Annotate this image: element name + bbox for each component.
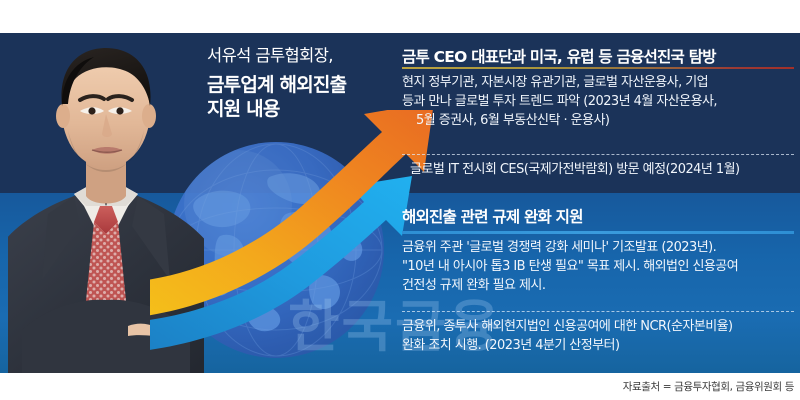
growth-arrows — [150, 110, 440, 360]
divider-dashed-1 — [402, 154, 794, 155]
section-2-block-2: 금융위, 종투사 해외현지법인 신용공여에 대한 NCR(순자본비율) 완화 조… — [402, 317, 798, 355]
text-line: "10년 내 아시아 톱3 IB 탄생 필요" 목표 제시. 해외법인 신용공여 — [402, 257, 798, 276]
section-title-overseas-tour: 금투 CEO 대표단과 미국, 유럽 등 금융선진국 탐방 — [402, 45, 716, 67]
headline-line-1: 서유석 금투협회장, — [207, 45, 387, 66]
section-title-deregulation: 해외진출 관련 규제 완화 지원 — [402, 205, 583, 227]
text-line: 글로벌 IT 전시회 CES(국제가전박람회) 방문 예정(2024년 1월) — [410, 160, 798, 179]
headline-line-3: 지원 내용 — [207, 97, 387, 121]
text-line: 금융위, 종투사 해외현지법인 신용공여에 대한 NCR(순자본비율) — [402, 317, 798, 336]
text-line: 현지 정부기관, 자본시장 유관기관, 글로벌 자산운용사, 기업 — [402, 73, 798, 92]
section-1-rule — [402, 67, 794, 69]
section-1-block-2: 글로벌 IT 전시회 CES(국제가전박람회) 방문 예정(2024년 1월) — [410, 160, 798, 179]
headline-line-2: 금투업계 해외진출 — [207, 73, 387, 97]
section-1-block-1: 현지 정부기관, 자본시장 유관기관, 글로벌 자산운용사, 기업 등과 만나 … — [402, 73, 798, 131]
text-line: 완화 조치 시행. (2023년 4분기 산정부터) — [402, 336, 798, 355]
section-2-rule — [402, 231, 794, 234]
text-line: 5월 증권사, 6월 부동산신탁 · 운용사) — [402, 111, 798, 130]
infographic-root: 한국금융 서유석 금투협회장, 금투업계 해외진출 지원 내용 금투 CEO 대… — [0, 0, 800, 400]
divider-dashed-2 — [402, 311, 794, 312]
text-line: 건전성 규제 완화 필요 제시. — [402, 276, 798, 295]
headline: 서유석 금투협회장, 금투업계 해외진출 지원 내용 — [207, 45, 387, 122]
text-line: 등과 만나 글로벌 투자 트렌드 파악 (2023년 4월 자산운용사, — [402, 92, 798, 111]
section-2-block-1: 금융위 주관 '글로벌 경쟁력 강화 세미나' 기조발표 (2023년). "1… — [402, 238, 798, 296]
content-column: 금투 CEO 대표단과 미국, 유럽 등 금융선진국 탐방 현지 정부기관, 자… — [398, 33, 800, 373]
text-line: 금융위 주관 '글로벌 경쟁력 강화 세미나' 기조발표 (2023년). — [402, 238, 798, 257]
source-credit: 자료출처 = 금융투자협회, 금융위원회 등 — [623, 379, 794, 394]
